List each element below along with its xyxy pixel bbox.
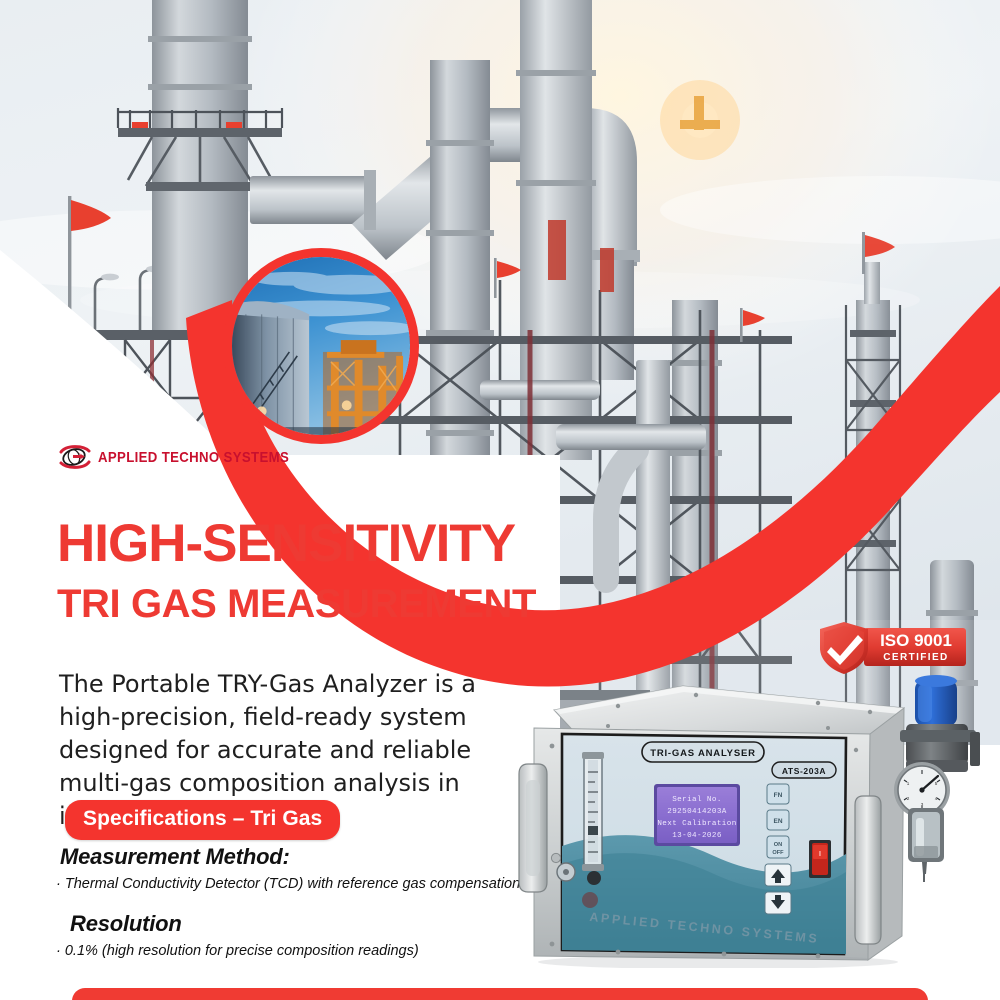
company-logo[interactable]: APPLIED TECHNO SYSTEMS bbox=[58, 444, 315, 470]
spec-heading-measurement-method: Measurement Method: bbox=[60, 844, 522, 870]
logo-wordmark: APPLIED TECHNO SYSTEMS bbox=[98, 449, 289, 466]
storage-tank-illustration bbox=[232, 257, 410, 435]
lcd-line-4: 13-04-2026 bbox=[672, 832, 722, 840]
pressure-regulator: 12 345 bbox=[894, 675, 980, 882]
page-title: HIGH-SENSITIVITY TRI GAS MEASUREMENT bbox=[57, 516, 577, 626]
lcd-line-3: Next Calibration bbox=[657, 820, 736, 828]
analyser-illustration: TRI-GAS ANALYSER ATS-203A Serial No. 29 bbox=[518, 668, 1000, 968]
en-button-label: EN bbox=[773, 818, 782, 825]
off-button-label: OFF bbox=[772, 850, 784, 856]
lcd-line-2: 29250414203A bbox=[667, 808, 727, 816]
on-button-label: ON bbox=[774, 842, 782, 848]
headline-line-2: TRI GAS MEASUREMENT bbox=[57, 582, 577, 626]
fn-button-label: FN bbox=[774, 792, 783, 799]
iso-badge-line-2: CERTIFIED bbox=[883, 652, 948, 663]
globe-swoosh-icon bbox=[58, 444, 92, 470]
right-handle bbox=[855, 796, 881, 944]
svg-text:5: 5 bbox=[935, 781, 938, 786]
footer-accent-bar bbox=[72, 988, 928, 1000]
device-title-plate: TRI-GAS ANALYSER bbox=[650, 748, 756, 759]
product-photo-tri-gas-analyser: TRI-GAS ANALYSER ATS-203A Serial No. 29 bbox=[518, 668, 1000, 968]
power-switch-label: I bbox=[819, 851, 821, 858]
svg-text:3: 3 bbox=[921, 802, 924, 807]
status-badge: Specifications – Tri Gas bbox=[65, 800, 340, 840]
spec-item-resolution: · 0.1% (high resolution for precise comp… bbox=[56, 941, 522, 962]
iso-badge-line-1: ISO 9001 bbox=[880, 631, 952, 650]
svg-text:1: 1 bbox=[907, 781, 910, 786]
spec-heading-resolution: Resolution bbox=[70, 911, 522, 937]
svg-text:4: 4 bbox=[935, 796, 938, 801]
spec-item-measurement-method: · Thermal Conductivity Detector (TCD) wi… bbox=[56, 874, 522, 895]
headline-line-1: HIGH-SENSITIVITY bbox=[57, 516, 577, 572]
lcd-line-1: Serial No. bbox=[672, 796, 722, 804]
svg-text:2: 2 bbox=[907, 796, 910, 801]
circle-inset-photo bbox=[223, 248, 419, 444]
flyer-page: APPLIED TECHNO SYSTEMS HIGH-SENSITIVITY … bbox=[0, 0, 1000, 1000]
device-model-plate: ATS-203A bbox=[782, 766, 826, 776]
specifications-list: Measurement Method: · Thermal Conductivi… bbox=[52, 844, 522, 964]
